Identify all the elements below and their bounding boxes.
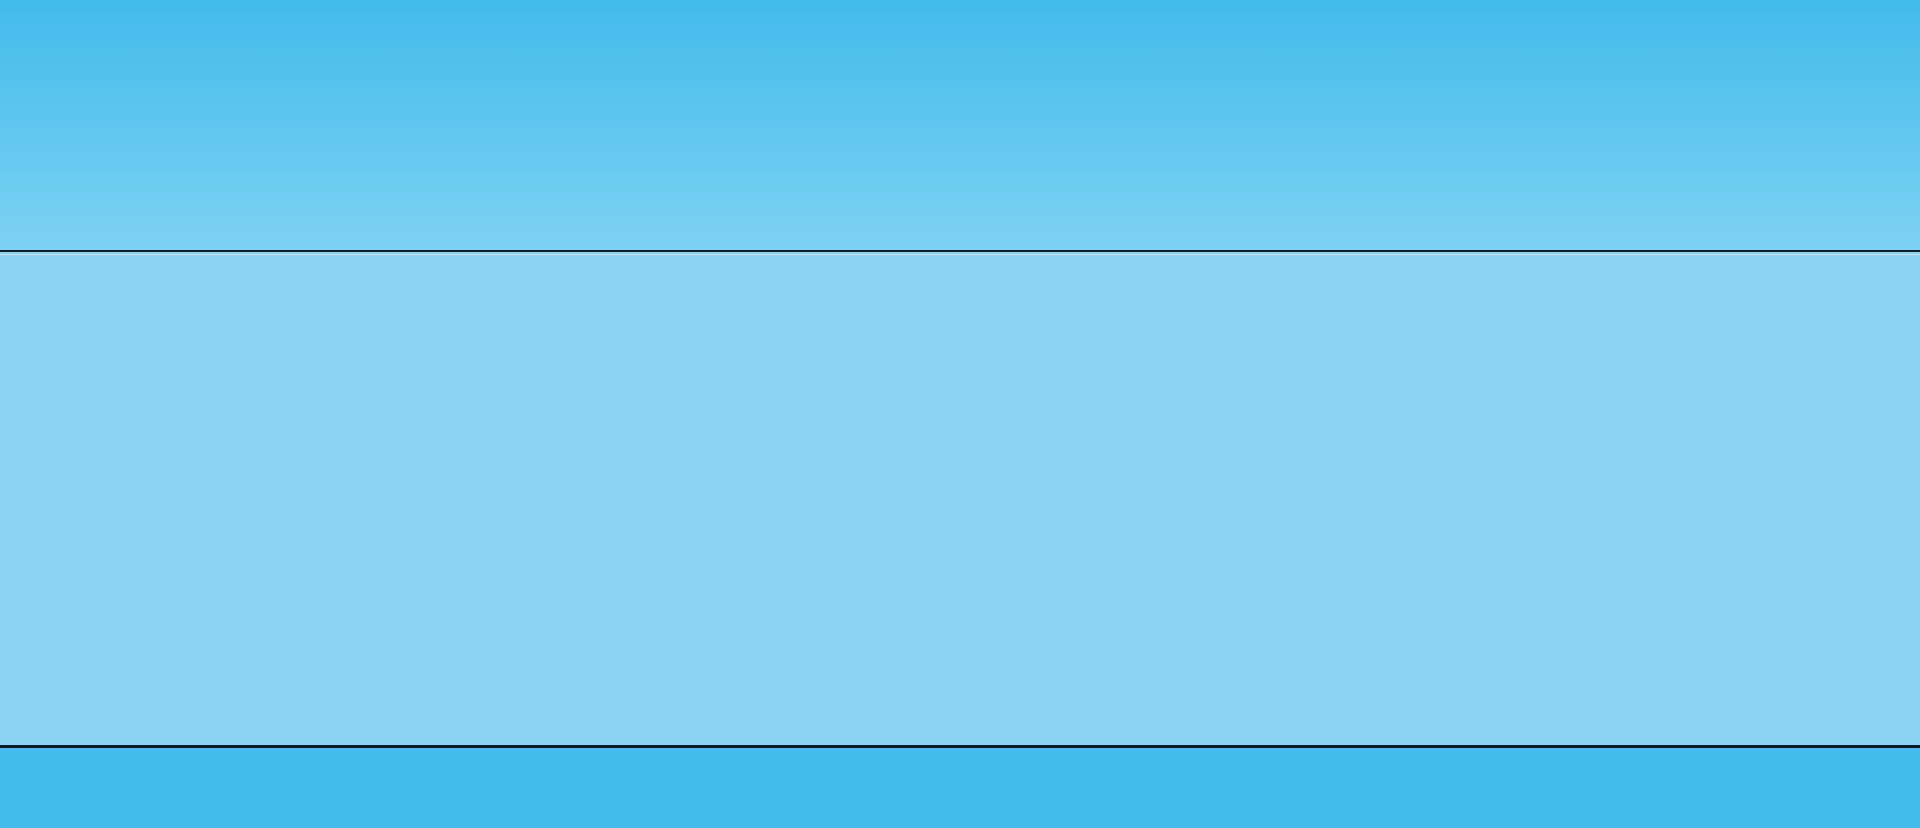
- plot-bottom-axis-rule: [0, 745, 1920, 748]
- plot-top-axis-rule: [0, 250, 1920, 252]
- bottom-axis: [0, 748, 1920, 828]
- header-banner: [0, 0, 1920, 252]
- top-axis: [0, 190, 1920, 252]
- plot-top-axis-rule-highlight: [0, 254, 1920, 255]
- spectrum-canvas: [0, 252, 1920, 748]
- poster-root: [0, 0, 1920, 828]
- spectrum-plot: [0, 252, 1920, 748]
